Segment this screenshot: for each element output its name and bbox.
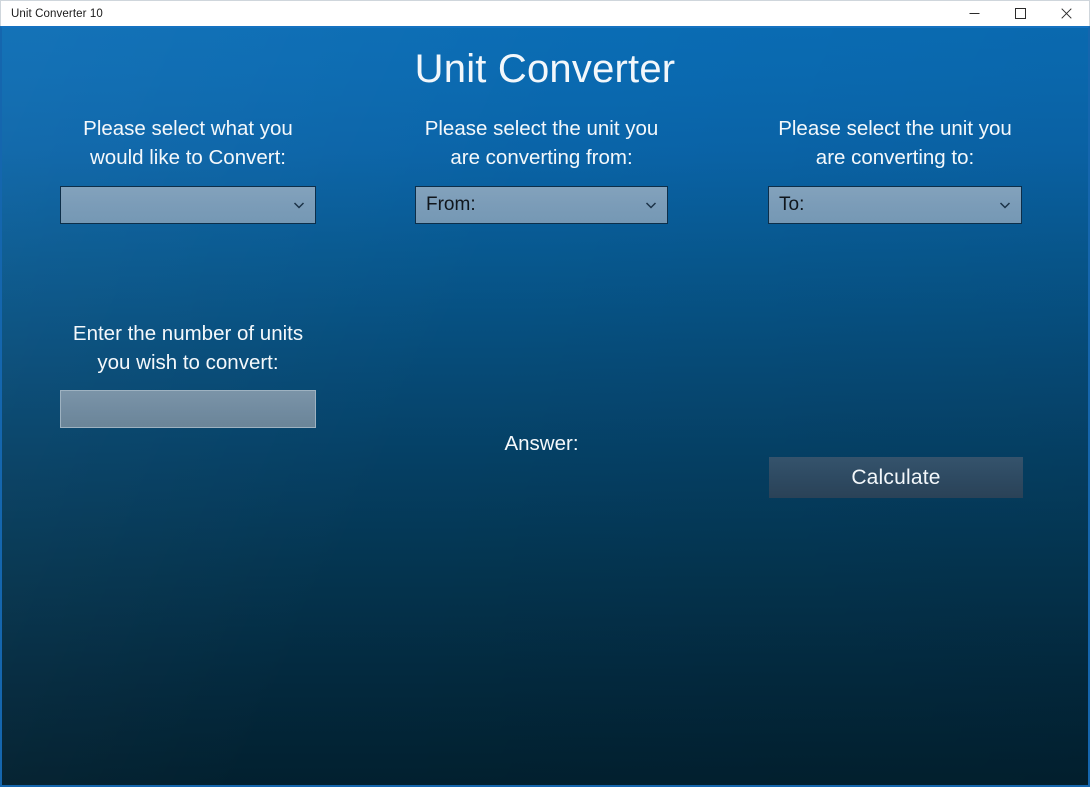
quantity-group: Enter the number of units you wish to co…: [60, 319, 316, 428]
chevron-down-icon: [998, 198, 1012, 212]
chevron-down-icon: [644, 198, 658, 212]
convert-to-dropdown[interactable]: To:: [768, 186, 1022, 224]
convert-type-label: Please select what you would like to Con…: [60, 114, 316, 172]
convert-to-label: Please select the unit you are convertin…: [768, 114, 1022, 172]
convert-from-dropdown-value: From:: [426, 194, 476, 216]
application-window: Unit Converter 10 Unit Convert: [0, 0, 1090, 787]
answer-label: Answer:: [415, 432, 668, 456]
quantity-input[interactable]: [60, 390, 316, 428]
maximize-button[interactable]: [997, 1, 1043, 26]
title-bar: Unit Converter 10: [0, 0, 1090, 26]
quantity-label: Enter the number of units you wish to co…: [60, 319, 316, 377]
convert-from-dropdown[interactable]: From:: [415, 186, 668, 224]
window-title: Unit Converter 10: [1, 8, 103, 20]
window-controls: [951, 1, 1089, 27]
minimize-button[interactable]: [951, 1, 997, 26]
convert-type-group: Please select what you would like to Con…: [60, 114, 316, 224]
convert-from-label: Please select the unit you are convertin…: [415, 114, 668, 172]
minimize-icon: [969, 8, 980, 19]
maximize-icon: [1015, 8, 1026, 19]
convert-from-group: Please select the unit you are convertin…: [415, 114, 668, 224]
convert-type-dropdown[interactable]: [60, 186, 316, 224]
convert-to-group: Please select the unit you are convertin…: [768, 114, 1022, 224]
page-title: Unit Converter: [2, 47, 1088, 92]
close-button[interactable]: [1043, 1, 1089, 26]
close-icon: [1061, 8, 1072, 19]
app-content: Unit Converter Please select what you wo…: [0, 26, 1090, 787]
convert-to-dropdown-value: To:: [779, 194, 804, 216]
calculate-button[interactable]: Calculate: [769, 457, 1023, 498]
chevron-down-icon: [292, 198, 306, 212]
